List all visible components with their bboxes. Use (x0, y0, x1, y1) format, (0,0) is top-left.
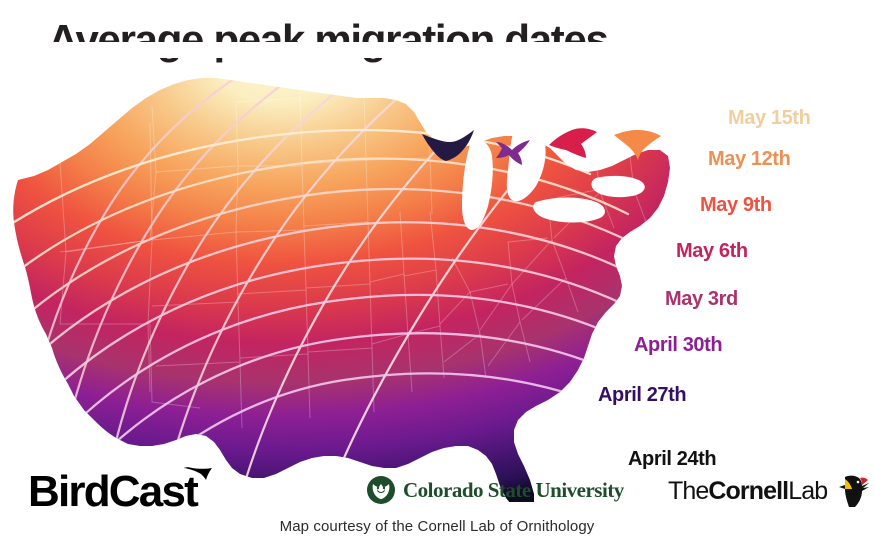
cornell-lab: Lab (788, 477, 827, 505)
date-label-may-15: May 15th (728, 107, 810, 130)
birdcast-wordmark: BirdCast (28, 470, 197, 514)
csu-wordmark: Colorado State University (403, 478, 624, 503)
ram-head-icon (366, 475, 396, 505)
map-svg (0, 62, 700, 502)
woodpecker-icon (831, 473, 871, 509)
birdcast-bird-icon (184, 466, 212, 480)
cornell-cornell: Cornell (708, 477, 788, 505)
cornell-wordmark: TheCornellLab (668, 479, 827, 504)
colorado-state-university-logo: Colorado State University (366, 473, 624, 507)
date-label-april-30: April 30th (634, 334, 722, 357)
date-label-may-9: May 9th (700, 194, 772, 217)
date-label-may-12: May 12th (708, 148, 790, 171)
migration-map-infographic: Average peak migration dates (0, 0, 874, 551)
cornell-the: The (668, 477, 708, 505)
date-label-april-24: April 24th (628, 448, 716, 471)
map-mask (0, 42, 720, 58)
cornell-lab-logo: TheCornellLab (668, 473, 871, 509)
date-label-april-27: April 27th (598, 384, 686, 407)
date-label-may-3: May 3rd (665, 288, 738, 311)
birdcast-logo: BirdCast (28, 466, 238, 516)
date-label-may-6: May 6th (676, 240, 748, 263)
map-caption: Map courtesy of the Cornell Lab of Ornit… (0, 518, 874, 535)
migration-map (0, 62, 700, 502)
